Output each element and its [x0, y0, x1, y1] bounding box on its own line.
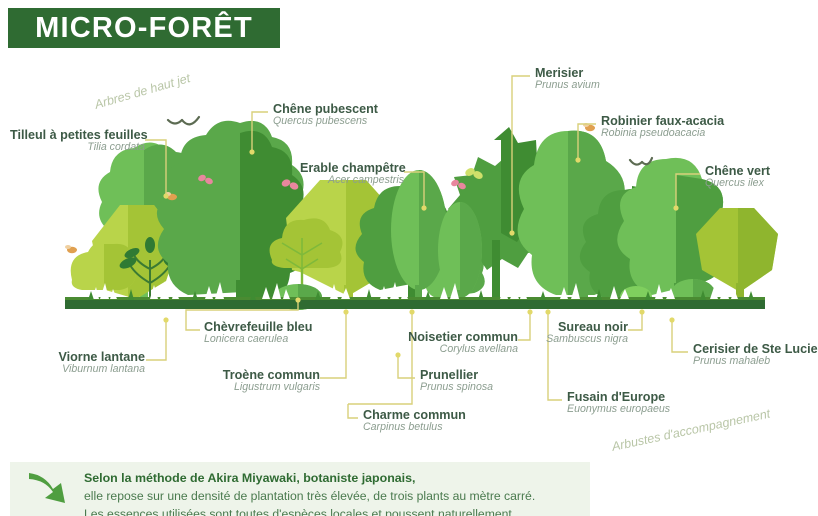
species-fr-erable: Erable champêtre — [300, 161, 404, 175]
bird-icon-right — [630, 158, 652, 165]
species-fr-robinier: Robinier faux-acacia — [601, 114, 724, 128]
species-la-fusain: Euonymus europaeus — [567, 404, 670, 416]
species-fr-sureau: Sureau noir — [508, 320, 628, 334]
species-label-chevrefeuille: Chèvrefeuille bleu Lonicera caerulea — [204, 320, 312, 346]
species-fr-chene-vert: Chêne vert — [705, 164, 770, 178]
species-label-cerisier: Cerisier de Ste Lucie Prunus mahaleb — [693, 342, 818, 368]
species-label-prunellier: Prunellier Prunus spinosa — [420, 368, 493, 394]
species-fr-charme: Charme commun — [363, 408, 466, 422]
species-label-fusain: Fusain d'Europe Euonymus europaeus — [567, 390, 670, 416]
species-label-tilleul: Tilleul à petites feuilles Tilia cordata — [10, 128, 145, 154]
species-label-chene-vert: Chêne vert Quercus ilex — [705, 164, 770, 190]
species-la-troene: Ligustrum vulgaris — [190, 382, 320, 394]
method-note-box: Selon la méthode de Akira Miyawaki, bota… — [10, 462, 590, 516]
species-label-erable: Erable champêtre Acer campestris — [300, 161, 404, 187]
species-la-prunellier: Prunus spinosa — [420, 382, 493, 394]
ground-strip — [65, 300, 765, 309]
species-la-chene-vert: Quercus ilex — [705, 178, 770, 190]
bird-icon-left — [168, 117, 199, 124]
species-fr-chene-pubescent: Chêne pubescent — [273, 102, 378, 116]
species-fr-troene: Troène commun — [190, 368, 320, 382]
species-label-noisetier: Noisetier commun Corylus avellana — [390, 330, 518, 356]
species-fr-prunellier: Prunellier — [420, 368, 493, 382]
bee-icon-left — [65, 245, 77, 253]
species-fr-merisier: Merisier — [535, 66, 600, 80]
species-fr-noisetier: Noisetier commun — [390, 330, 518, 344]
species-la-tilleul: Tilia cordata — [10, 142, 145, 154]
species-la-merisier: Prunus avium — [535, 80, 600, 92]
species-label-charme: Charme commun Carpinus betulus — [363, 408, 466, 434]
page-title: MICRO-FORÊT — [8, 8, 280, 48]
method-note-line2: elle repose sur une densité de plantatio… — [84, 488, 582, 506]
method-note-text: Selon la méthode de Akira Miyawaki, bota… — [84, 470, 582, 516]
species-la-robinier: Robinia pseudoacacia — [601, 128, 724, 140]
species-la-charme: Carpinus betulus — [363, 422, 466, 434]
bee-icon-right — [583, 123, 595, 131]
species-la-cerisier: Prunus mahaleb — [693, 356, 818, 368]
species-la-chevrefeuille: Lonicera caerulea — [204, 334, 312, 346]
method-note-line1: Selon la méthode de Akira Miyawaki, bota… — [84, 470, 582, 488]
page-title-text: MICRO-FORÊT — [35, 12, 253, 45]
species-la-sureau: Sambuscus nigra — [508, 334, 628, 346]
species-label-merisier: Merisier Prunus avium — [535, 66, 600, 92]
species-label-robinier: Robinier faux-acacia Robinia pseudoacaci… — [601, 114, 724, 140]
species-la-erable: Acer campestris — [300, 175, 404, 187]
species-label-troene: Troène commun Ligustrum vulgaris — [190, 368, 320, 394]
species-la-chene-pubescent: Quercus pubescens — [273, 116, 378, 128]
species-fr-chevrefeuille: Chèvrefeuille bleu — [204, 320, 312, 334]
species-label-sureau: Sureau noir Sambuscus nigra — [508, 320, 628, 346]
species-fr-viorne: Viorne lantane — [20, 350, 145, 364]
species-fr-fusain: Fusain d'Europe — [567, 390, 670, 404]
method-note-line3: Les essences utilisées sont toutes d'esp… — [84, 506, 582, 516]
species-fr-tilleul: Tilleul à petites feuilles — [10, 128, 145, 142]
species-fr-cerisier: Cerisier de Ste Lucie — [693, 342, 818, 356]
arrow-right-icon — [24, 470, 70, 510]
species-label-chene-pubescent: Chêne pubescent Quercus pubescens — [273, 102, 378, 128]
tree-chene-pubescent-group — [157, 121, 309, 302]
species-la-viorne: Viburnum lantana — [20, 364, 145, 376]
species-label-viorne: Viorne lantane Viburnum lantana — [20, 350, 145, 376]
species-la-noisetier: Corylus avellana — [390, 344, 518, 356]
infographic-canvas: MICRO-FORÊT — [0, 0, 818, 516]
